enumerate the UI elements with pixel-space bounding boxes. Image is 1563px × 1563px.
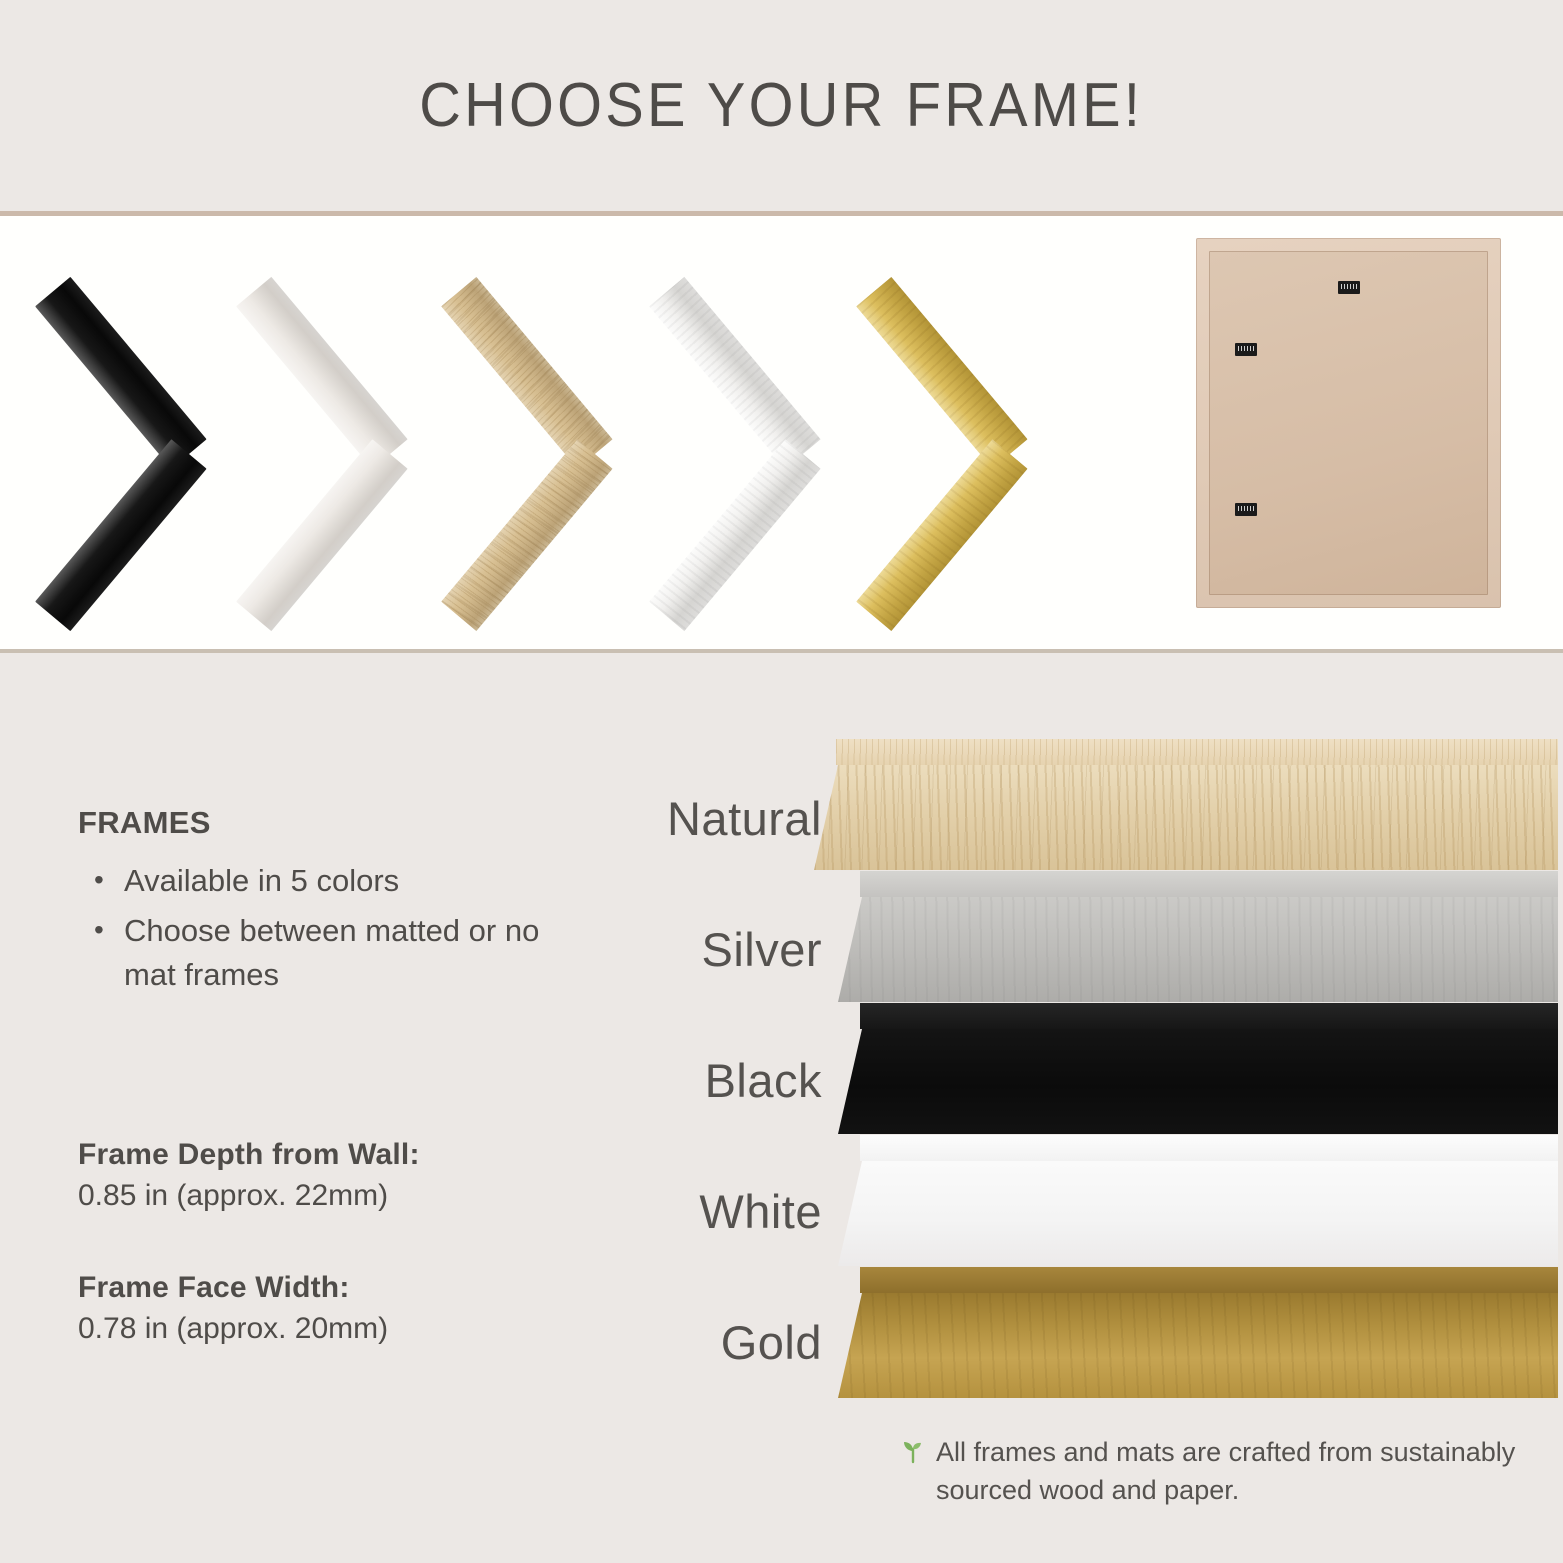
bar-top-edge xyxy=(836,739,1558,765)
list-item: • Choose between matted or no mat frames xyxy=(78,909,598,997)
hanger-bracket-icon xyxy=(1235,343,1257,356)
moulding-bar-white[interactable] xyxy=(838,1135,1558,1266)
frame-back-panel[interactable] xyxy=(1196,238,1501,608)
spec-label: Frame Face Width: xyxy=(78,1271,638,1305)
frame-corner-white[interactable] xyxy=(285,304,495,604)
moulding-bar-natural[interactable] xyxy=(814,739,1558,870)
frame-corner-silver[interactable] xyxy=(698,304,908,604)
details-section: FRAMES • Available in 5 colors • Choose … xyxy=(0,653,1563,1563)
hanger-bracket-icon xyxy=(1235,503,1257,516)
moulding-bar-silver[interactable] xyxy=(838,871,1558,1002)
frames-feature-list: • Available in 5 colors • Choose between… xyxy=(78,859,598,997)
chevron-arm-lower xyxy=(35,439,207,631)
moulding-bar-gold[interactable] xyxy=(838,1267,1558,1398)
header-banner: CHOOSE YOUR FRAME! xyxy=(0,0,1563,211)
back-panel-inner xyxy=(1209,251,1488,595)
frame-specs-block: Frame Depth from Wall: 0.85 in (approx. … xyxy=(78,1138,638,1404)
bar-front-face xyxy=(838,1029,1558,1134)
bar-top-edge xyxy=(860,1135,1558,1161)
list-item-label: Choose between matted or no mat frames xyxy=(124,909,598,997)
list-item: • Available in 5 colors xyxy=(78,859,598,903)
frame-corner-black[interactable] xyxy=(84,304,294,604)
sprout-icon xyxy=(900,1438,926,1469)
swatch-label-natural: Natural xyxy=(560,753,822,884)
swatch-label-white: White xyxy=(560,1146,822,1277)
sustainability-text: All frames and mats are crafted from sus… xyxy=(936,1433,1520,1510)
sustainability-note: All frames and mats are crafted from sus… xyxy=(900,1433,1520,1510)
list-item-label: Available in 5 colors xyxy=(124,859,598,903)
swatch-label-column: Natural Silver Black White Gold xyxy=(560,753,822,1408)
bar-front-face xyxy=(838,897,1558,1002)
bar-front-face xyxy=(814,765,1558,870)
frame-corner-natural[interactable] xyxy=(490,304,700,604)
moulding-bar-black[interactable] xyxy=(838,1003,1558,1134)
bullet-icon: • xyxy=(78,859,124,903)
hanger-bracket-icon xyxy=(1338,281,1360,294)
spec-value: 0.78 in (approx. 20mm) xyxy=(78,1312,638,1346)
frames-heading: FRAMES xyxy=(78,805,598,841)
page-title: CHOOSE YOUR FRAME! xyxy=(420,70,1144,141)
frame-corner-gold[interactable] xyxy=(905,304,1115,604)
swatch-label-black: Black xyxy=(560,1015,822,1146)
frame-corner-sample-band xyxy=(0,216,1563,652)
bar-top-edge xyxy=(860,1267,1558,1293)
swatch-label-silver: Silver xyxy=(560,884,822,1015)
bar-front-face xyxy=(838,1293,1558,1398)
chevron-arm-upper xyxy=(35,277,207,469)
spec-frame-depth: Frame Depth from Wall: 0.85 in (approx. … xyxy=(78,1138,638,1213)
spec-frame-face-width: Frame Face Width: 0.78 in (approx. 20mm) xyxy=(78,1271,638,1346)
moulding-bar-stack xyxy=(838,739,1558,1399)
spec-value: 0.85 in (approx. 22mm) xyxy=(78,1179,638,1213)
spec-label: Frame Depth from Wall: xyxy=(78,1138,638,1172)
swatch-label-gold: Gold xyxy=(560,1277,822,1408)
bar-front-face xyxy=(838,1161,1558,1266)
bar-top-edge xyxy=(860,1003,1558,1029)
bullet-icon: • xyxy=(78,909,124,997)
frames-info-block: FRAMES • Available in 5 colors • Choose … xyxy=(78,805,598,1003)
bar-top-edge xyxy=(860,871,1558,897)
